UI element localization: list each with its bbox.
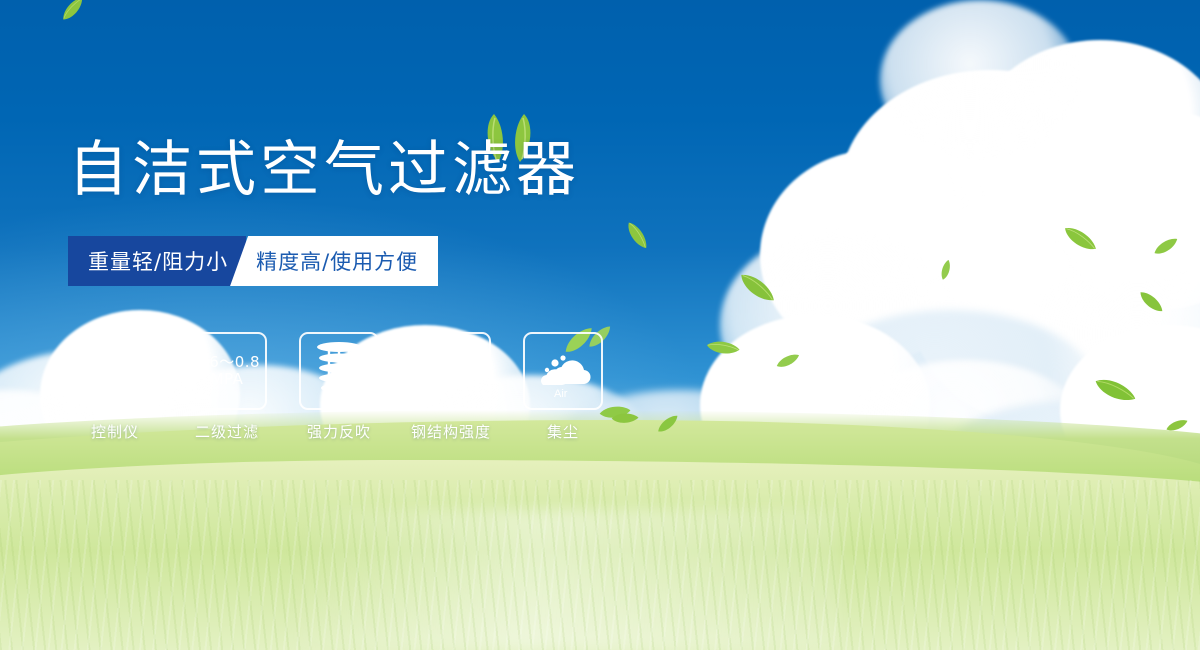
feature-box: 0.6～0.8 MPA xyxy=(187,332,267,410)
feature-label: 二级过滤 xyxy=(195,421,259,442)
dial-on-label: NO xyxy=(83,363,97,378)
feature-box: NO OFF xyxy=(75,332,155,410)
feature-label: 集尘 xyxy=(547,421,579,442)
feature-box xyxy=(299,332,379,410)
subtitle-left: 重量轻/阻力小 xyxy=(68,236,246,286)
pressure-range: 0.6～0.8 xyxy=(194,354,260,371)
filter-coil-icon xyxy=(312,340,366,402)
air-label: Air xyxy=(554,388,568,400)
feature-item-steel-plate[interactable]: 3～8MM 钢板 钢结构强度 xyxy=(404,332,498,442)
feature-label: 钢结构强度 xyxy=(411,421,491,442)
feature-item-control-dial[interactable]: NO OFF 控制仪 xyxy=(68,332,162,442)
steel-thickness: 3～8MM xyxy=(420,354,482,371)
dial-off-label: OFF xyxy=(124,388,142,402)
subtitle-bar: 重量轻/阻力小 精度高/使用方便 xyxy=(68,236,438,286)
subtitle-right: 精度高/使用方便 xyxy=(230,236,438,286)
steel-plate-text-icon: 3～8MM 钢板 xyxy=(420,354,482,389)
pressure-text-icon: 0.6～0.8 MPA xyxy=(194,354,260,389)
feature-item-blowback[interactable]: 强力反吹 xyxy=(292,332,386,442)
feature-label: 控制仪 xyxy=(91,421,139,442)
product-banner: 自洁式空气过滤器 重量轻/阻力小 精度高/使用方便 xyxy=(0,0,1200,650)
control-dial-icon: NO OFF xyxy=(82,340,148,402)
feature-item-pressure[interactable]: 0.6～0.8 MPA 二级过滤 xyxy=(180,332,274,442)
feature-item-dust-collection[interactable]: Air 集尘 xyxy=(516,332,610,442)
feature-box: 3～8MM 钢板 xyxy=(411,332,491,410)
feature-label: 强力反吹 xyxy=(307,421,371,442)
pressure-unit: MPA xyxy=(194,371,260,388)
steel-material: 钢板 xyxy=(420,371,482,388)
feature-list: NO OFF 控制仪 0.6～0.8 MPA 二级过滤 xyxy=(68,332,610,442)
feature-box: Air xyxy=(523,332,603,410)
air-cloud-icon: Air xyxy=(532,341,594,401)
banner-content: 自洁式空气过滤器 重量轻/阻力小 精度高/使用方便 xyxy=(0,0,1200,650)
page-title: 自洁式空气过滤器 xyxy=(68,140,580,200)
